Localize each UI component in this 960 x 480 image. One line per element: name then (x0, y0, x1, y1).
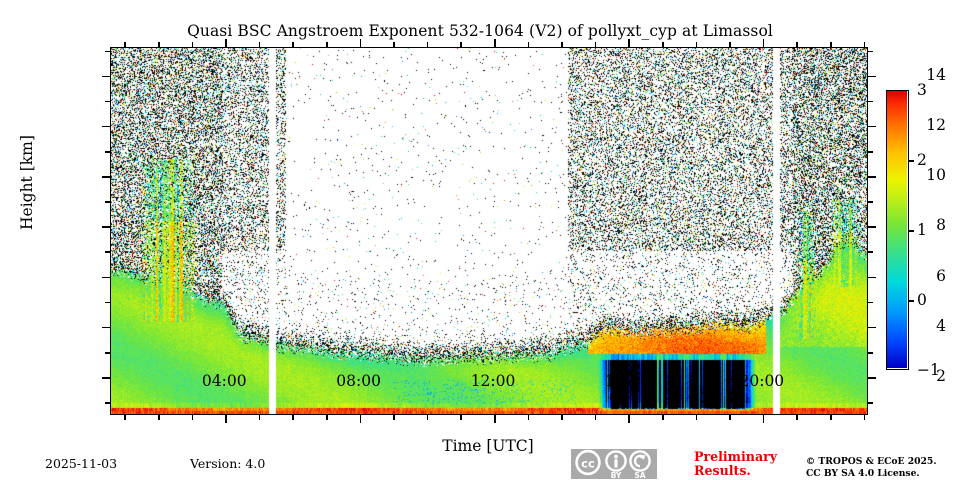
colorbar-tick-label: −1 (917, 361, 940, 379)
x-tick-label: 20:00 (739, 372, 784, 390)
plot-area (110, 47, 868, 415)
y-tick-major (102, 327, 110, 329)
colorbar-canvas (887, 91, 907, 368)
colorbar-tick-label: 3 (917, 81, 927, 99)
y-tick-label: 4 (906, 317, 946, 335)
y-tick-minor (105, 201, 110, 203)
cc-by-sa-icon: cc BY SA (571, 449, 657, 479)
colorbar-gradient (886, 90, 909, 370)
y-tick-major (102, 377, 110, 379)
y-tick-right (868, 226, 876, 228)
colorbar-tick (909, 160, 914, 162)
x-tick-major (628, 415, 630, 423)
x-tick-top (595, 42, 597, 47)
x-tick-major (763, 415, 765, 423)
x-tick-top (864, 42, 866, 47)
x-tick-major (225, 415, 227, 423)
x-tick-label: 04:00 (202, 372, 247, 390)
y-tick-right (868, 176, 876, 178)
x-tick-top (796, 42, 798, 47)
x-tick-minor (259, 415, 261, 420)
y-tick-major (102, 226, 110, 228)
y-tick-minor (105, 302, 110, 304)
by-label: BY (611, 471, 622, 479)
y-tick-label: 12 (906, 116, 946, 134)
preliminary-results-note: Preliminary Results. (694, 450, 786, 478)
x-tick-minor (662, 415, 664, 420)
colorbar-tick-label: 2 (917, 151, 927, 169)
x-tick-minor (124, 415, 126, 420)
x-tick-minor (864, 415, 866, 420)
y-tick-minor (105, 51, 110, 53)
heatmap-canvas (111, 48, 867, 414)
y-tick-minor (105, 402, 110, 404)
preliminary-line-1: Preliminary (694, 450, 786, 464)
x-tick-top (158, 42, 160, 47)
svg-text:cc: cc (581, 457, 595, 471)
x-tick-minor (326, 415, 328, 420)
y-tick-minor (105, 251, 110, 253)
x-tick-top (729, 42, 731, 47)
x-tick-minor (158, 415, 160, 420)
x-tick-minor (729, 415, 731, 420)
x-tick-top (192, 42, 194, 47)
y-tick-right (868, 76, 876, 78)
y-tick-major (102, 126, 110, 128)
y-tick-right (868, 51, 873, 53)
colorbar-tick-label: 1 (917, 221, 927, 239)
x-tick-top (696, 42, 698, 47)
y-tick-right (868, 352, 873, 354)
y-tick-minor (105, 101, 110, 103)
x-tick-minor (796, 415, 798, 420)
copyright-note: © TROPOS & ECoE 2025. CC BY SA 4.0 Licen… (806, 456, 956, 480)
colorbar-tick (909, 300, 914, 302)
footer-date: 2025-11-03 (45, 456, 117, 471)
x-tick-label: 16:00 (605, 372, 650, 390)
figure-root: Quasi BSC Angstroem Exponent 532-1064 (V… (0, 0, 960, 480)
x-tick-top (494, 39, 496, 47)
y-tick-right (868, 327, 876, 329)
y-tick-major (102, 176, 110, 178)
x-tick-top (259, 42, 261, 47)
x-tick-top (124, 42, 126, 47)
y-tick-right (868, 277, 876, 279)
sa-label: SA (634, 471, 645, 479)
preliminary-line-2: Results. (694, 464, 786, 478)
y-tick-right (868, 126, 876, 128)
x-tick-top (528, 42, 530, 47)
x-tick-minor (696, 415, 698, 420)
x-tick-top (326, 42, 328, 47)
x-tick-major (360, 415, 362, 423)
x-tick-minor (528, 415, 530, 420)
y-tick-minor (105, 151, 110, 153)
x-tick-major (494, 415, 496, 423)
y-tick-major (102, 76, 110, 78)
copyright-line-1: © TROPOS & ECoE 2025. (806, 456, 956, 468)
x-tick-top (360, 39, 362, 47)
y-tick-right (868, 251, 873, 253)
y-tick-minor (105, 352, 110, 354)
x-tick-top (460, 42, 462, 47)
x-tick-top (662, 42, 664, 47)
x-tick-minor (830, 415, 832, 420)
x-tick-minor (460, 415, 462, 420)
x-tick-top (225, 39, 227, 47)
x-tick-minor (427, 415, 429, 420)
x-tick-minor (192, 415, 194, 420)
y-tick-label: 6 (906, 267, 946, 285)
colorbar-tick (909, 230, 914, 232)
colorbar-tick-label: 0 (917, 291, 927, 309)
colorbar: 3210−1 (886, 90, 909, 370)
x-tick-top (561, 42, 563, 47)
x-tick-minor (292, 415, 294, 420)
copyright-line-2: CC BY SA 4.0 License. (806, 468, 956, 480)
y-tick-right (868, 201, 873, 203)
y-axis-title: Height [km] (18, 135, 36, 230)
x-tick-minor (595, 415, 597, 420)
x-tick-label: 08:00 (336, 372, 381, 390)
x-tick-label: 12:00 (471, 372, 516, 390)
y-tick-right (868, 302, 873, 304)
x-tick-top (393, 42, 395, 47)
x-tick-top (830, 42, 832, 47)
cc-by-sa-badge[interactable]: cc BY SA (571, 449, 657, 479)
x-tick-top (763, 39, 765, 47)
x-tick-top (628, 39, 630, 47)
x-tick-top (292, 42, 294, 47)
x-tick-minor (561, 415, 563, 420)
y-tick-right (868, 101, 873, 103)
y-tick-right (868, 402, 873, 404)
y-tick-major (102, 277, 110, 279)
x-tick-minor (393, 415, 395, 420)
y-tick-right (868, 151, 873, 153)
footer-version: Version: 4.0 (190, 456, 265, 471)
page-title: Quasi BSC Angstroem Exponent 532-1064 (V… (0, 22, 960, 40)
x-tick-top (427, 42, 429, 47)
y-tick-right (868, 377, 876, 379)
